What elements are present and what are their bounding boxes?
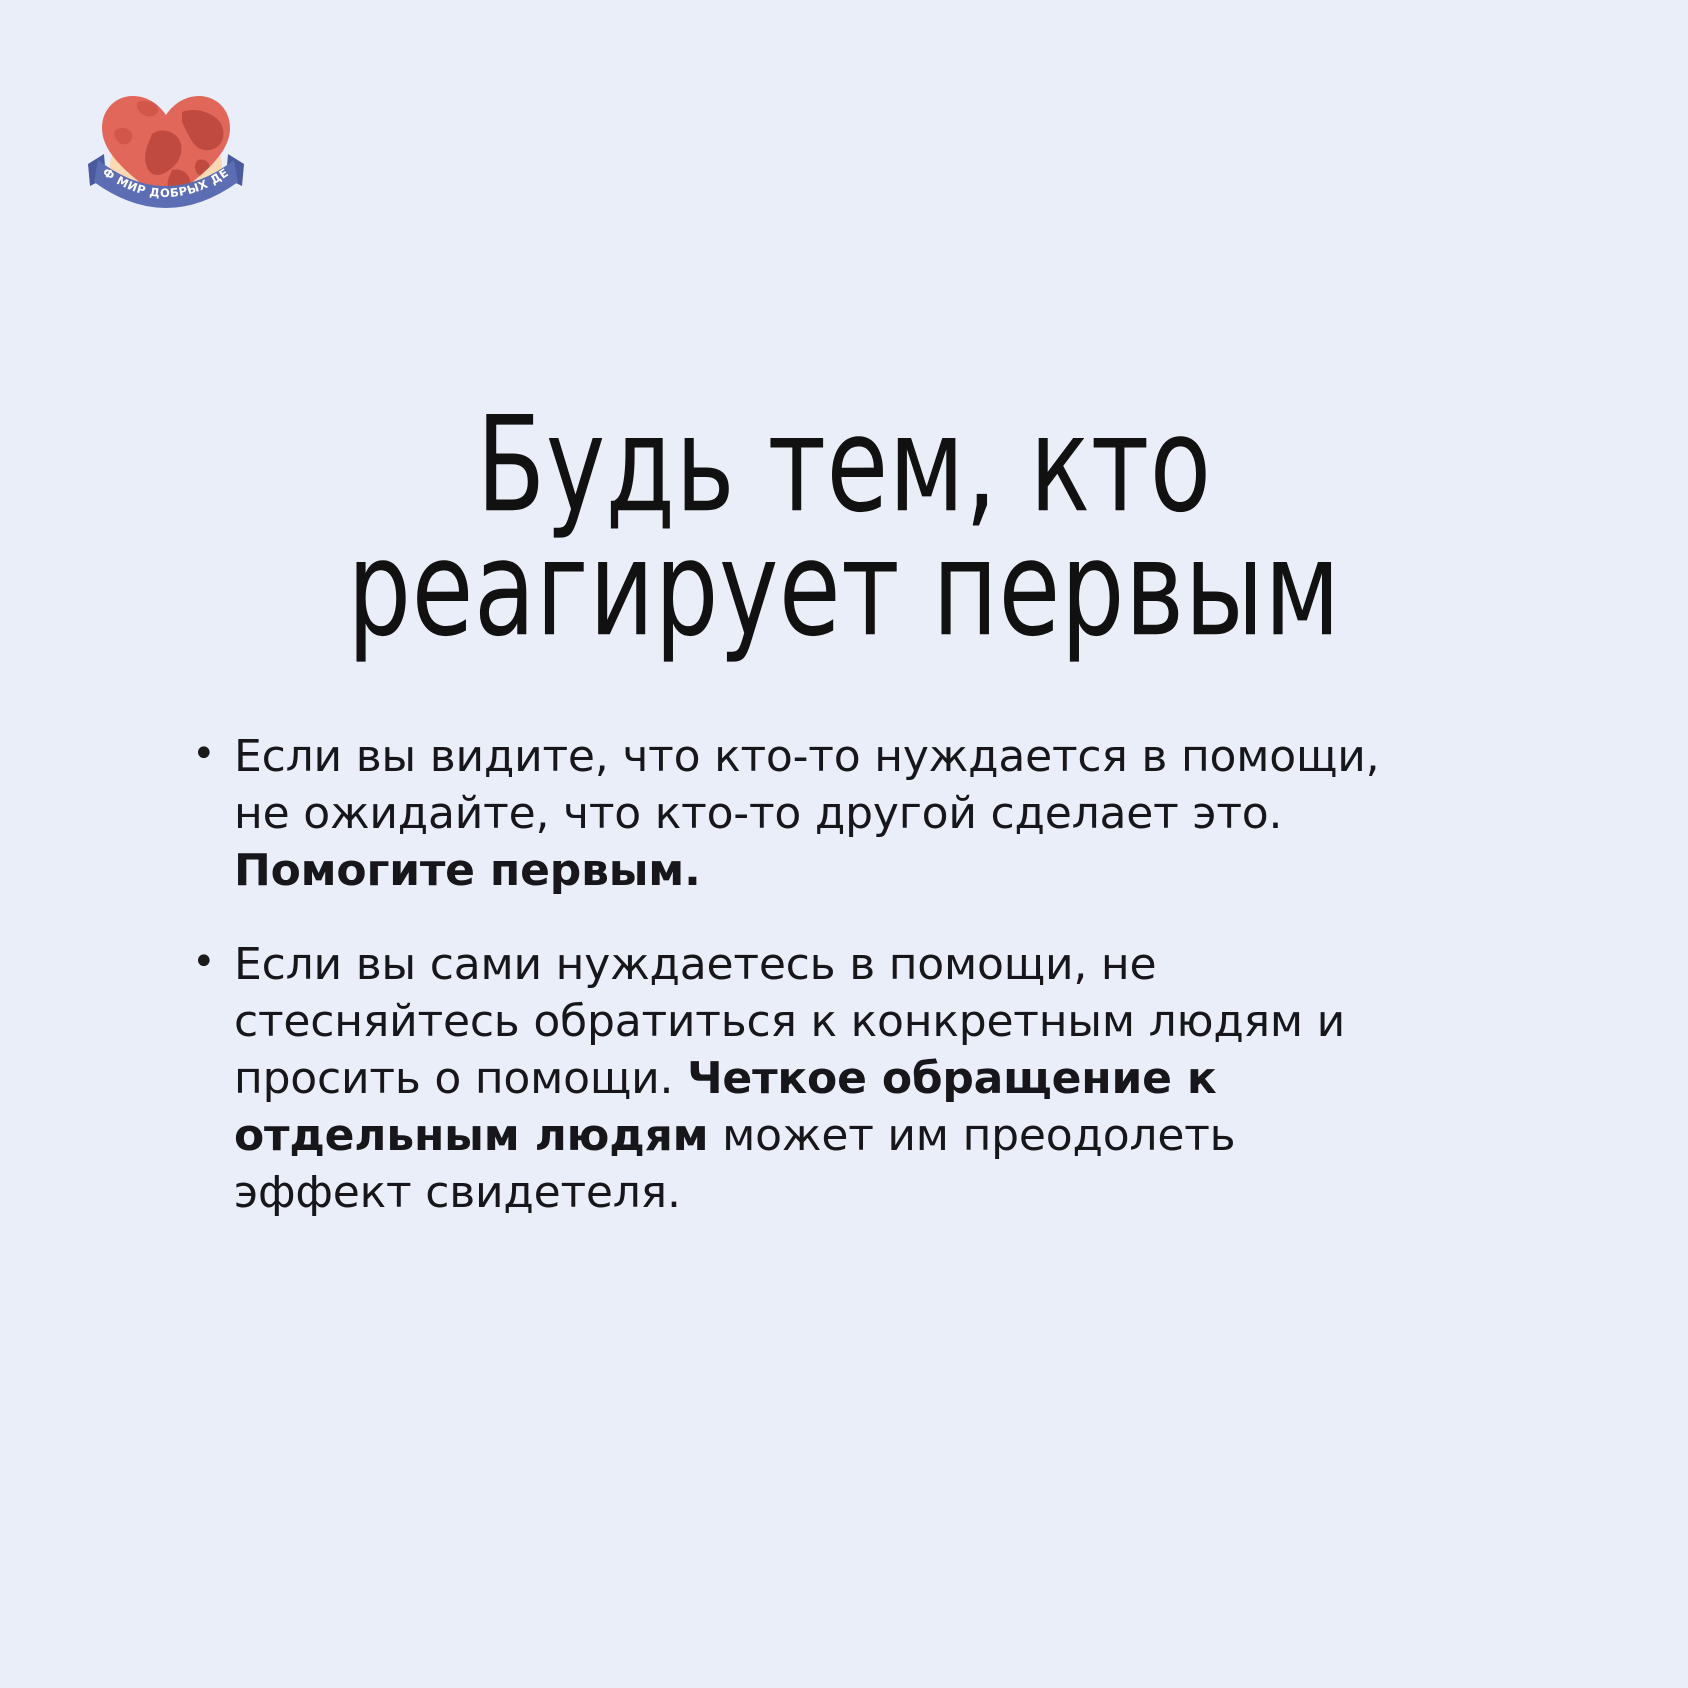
bullet-list: • Если вы видите, что кто-то нуждается в… [190, 728, 1510, 1222]
bullet-text-1: Если вы видите, что кто-то нуждается в п… [234, 728, 1424, 900]
charity-logo: БФ МИР ДОБРЫХ ДЕЛ [86, 78, 246, 218]
emphasis-text: Помогите первым. [234, 845, 701, 896]
slide-root: БФ МИР ДОБРЫХ ДЕЛ Будь тем, кто реагируе… [0, 0, 1688, 1688]
page-title: Будь тем, кто реагирует первым [0, 398, 1688, 645]
bullet-text-2: Если вы сами нуждаетесь в помощи, не сте… [234, 936, 1424, 1222]
list-item: • Если вы сами нуждаетесь в помощи, не с… [190, 936, 1510, 1222]
bullet-marker-icon: • [190, 728, 234, 780]
title-line-2: реагирует первым [199, 522, 1490, 658]
plain-text: Если вы видите, что кто-то нуждается в п… [234, 731, 1379, 839]
list-item: • Если вы видите, что кто-то нуждается в… [190, 728, 1510, 900]
bullet-marker-icon: • [190, 936, 234, 988]
